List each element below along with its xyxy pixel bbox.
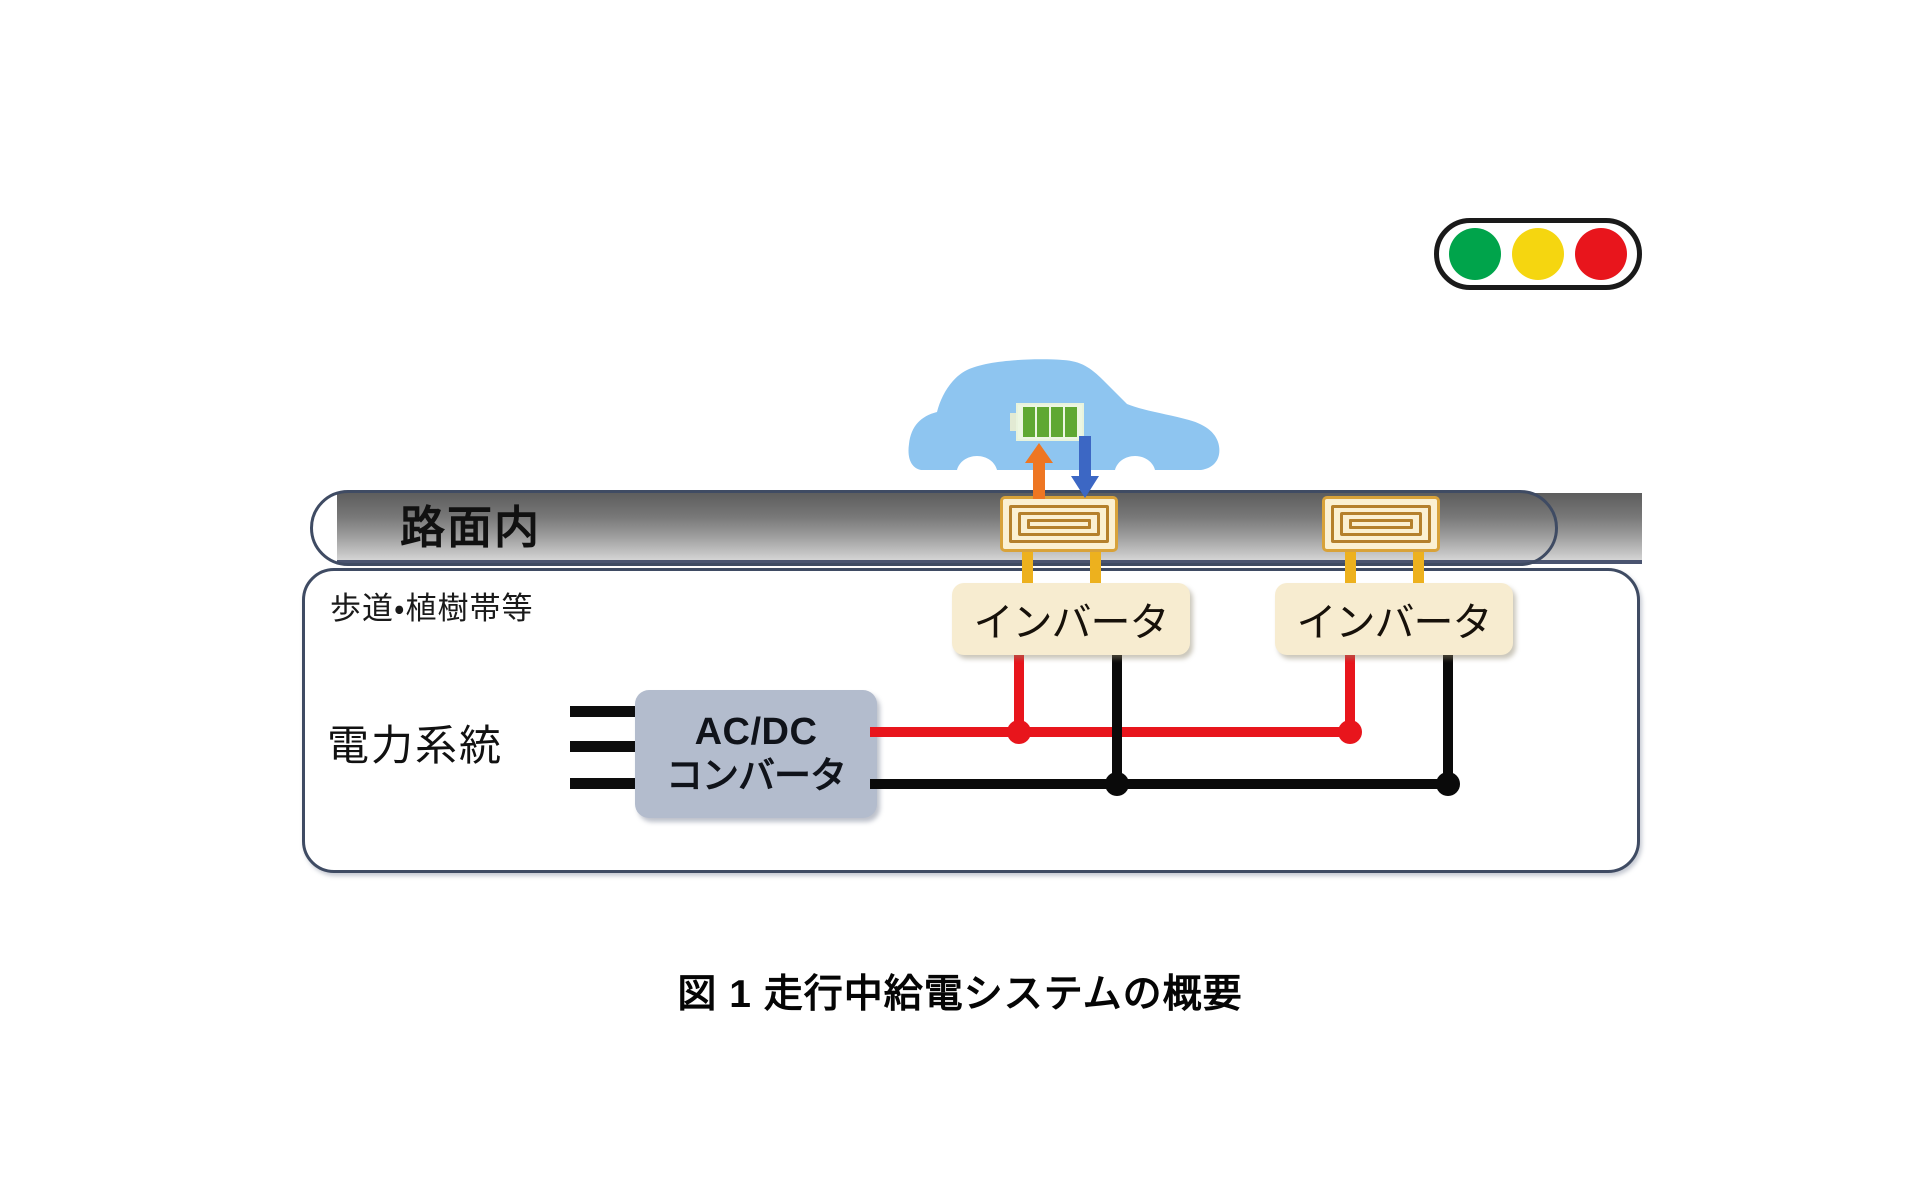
acdc-converter-label-line2: コンバータ (666, 754, 846, 798)
power-transmission-coil-2 (1322, 496, 1440, 552)
inverter-box-1: インバータ (952, 583, 1190, 655)
inverter-1-negative-wire (1112, 654, 1122, 786)
dc-negative-bus-wire (870, 779, 1455, 789)
power-grid-label: 電力系統 (327, 712, 503, 773)
acdc-converter-block: AC/DC コンバータ (635, 690, 877, 818)
bus-junction-dot (1436, 772, 1460, 796)
figure-caption: 図 1 走行中給電システムの概要 (0, 963, 1920, 1019)
bus-junction-dot (1007, 720, 1031, 744)
bus-junction-dot (1338, 720, 1362, 744)
inverter-box-2: インバータ (1275, 583, 1513, 655)
bus-junction-dot (1105, 772, 1129, 796)
road-layer-label: 路面内 (400, 495, 541, 561)
battery-cell (1023, 407, 1035, 437)
inverter-2-negative-wire (1443, 654, 1453, 786)
power-transmission-coil-1 (1000, 496, 1118, 552)
acdc-converter-label-line1: AC/DC (695, 710, 818, 754)
power-transfer-arrow-down (1070, 436, 1100, 503)
battery-cell (1065, 407, 1077, 437)
system-diagram: 路面内 歩道・植樹帯等 電力系統 AC/DC コンバータ インバータ インバータ (0, 0, 1920, 1200)
battery-cell (1037, 407, 1049, 437)
inverter-label: インバータ (1297, 590, 1492, 648)
battery-cell (1051, 407, 1063, 437)
coil-winding-turn (1027, 519, 1091, 529)
ground-layer-label: 歩道・植樹帯等 (330, 583, 534, 628)
inverter-label: インバータ (974, 590, 1169, 648)
coil-winding-turn (1349, 519, 1413, 529)
power-receive-arrow-up (1024, 443, 1054, 504)
